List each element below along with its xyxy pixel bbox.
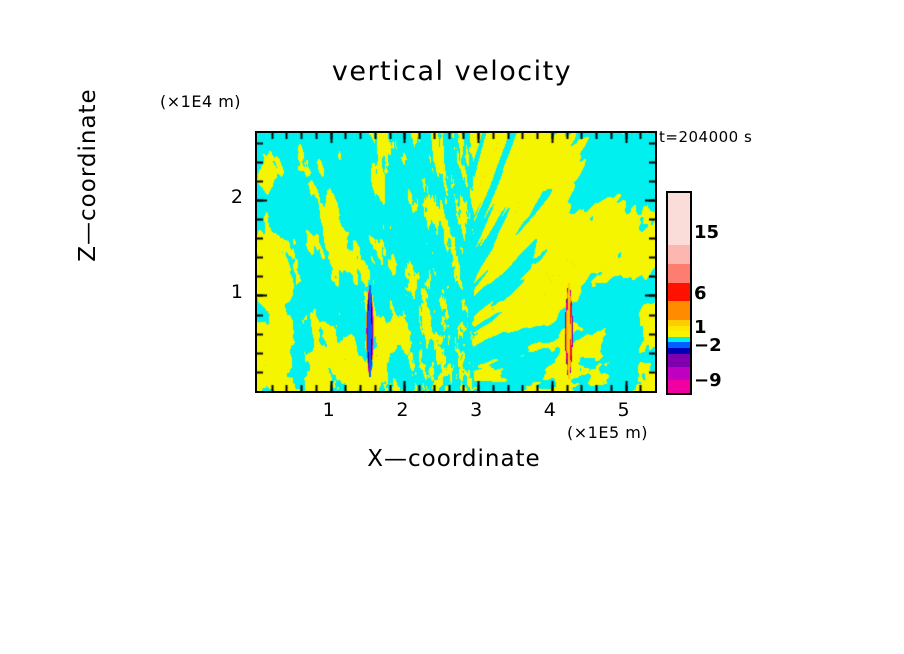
y-tick-label: 2 [213,186,243,208]
colorbar-band [668,193,690,245]
x-axis-unit-label: (×1E5 m) [567,423,648,442]
x-tick-label: 4 [530,399,570,421]
colorbar-band [668,367,690,380]
colorbar-tick-label: −9 [694,370,722,391]
y-axis-unit-label: (×1E4 m) [160,92,241,111]
colorbar-band [668,354,690,367]
colorbar [666,191,692,395]
y-axis-title: Z—coordinate [75,60,105,290]
colorbar-band [668,283,690,302]
x-tick-label: 2 [382,399,422,421]
y-tick-label: 1 [213,281,243,303]
x-tick-label: 5 [604,399,644,421]
colorbar-tick-label: 15 [694,222,719,243]
colorbar-band [668,264,690,283]
velocity-field-raster [257,133,655,391]
page-title: vertical velocity [0,56,904,87]
figure-canvas: vertical velocity (×1E4 m) Z—coordinate … [0,0,904,654]
x-tick-label: 3 [456,399,496,421]
x-axis-title: X—coordinate [255,446,653,472]
colorbar-band [668,301,690,320]
colorbar-tick-label: −2 [694,335,722,356]
colorbar-band [668,380,690,393]
colorbar-band [668,245,690,264]
colorbar-tick-label: 6 [694,283,707,304]
x-tick-label: 1 [309,399,349,421]
contour-plot-area [255,131,657,393]
time-stamp-annotation: t=204000 s [659,128,752,146]
